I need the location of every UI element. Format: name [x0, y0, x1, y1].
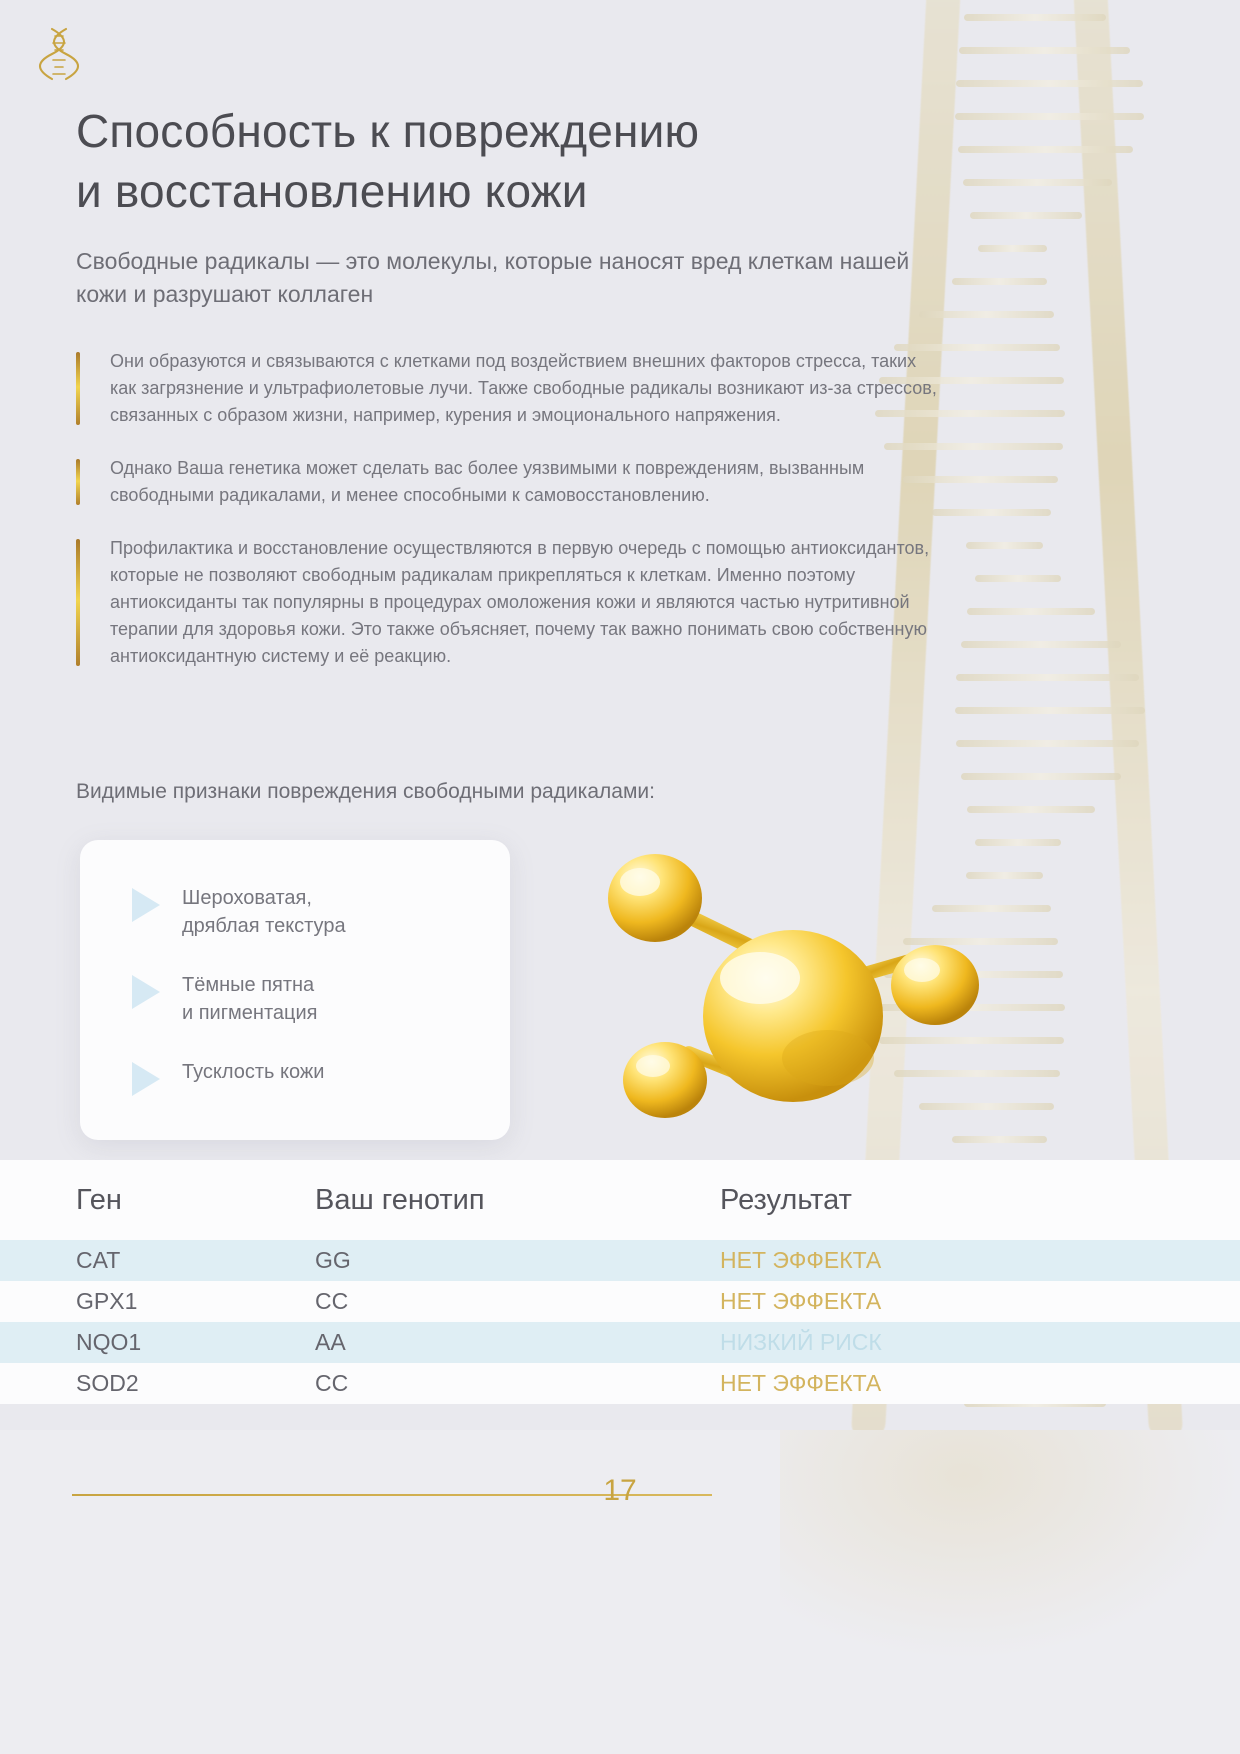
dna-rung — [959, 47, 1130, 54]
page-title-line-2: и восстановлению кожи — [76, 165, 588, 217]
dna-rung — [970, 212, 1082, 219]
dna-rung — [956, 674, 1138, 681]
cell-result: НЕТ ЭФФЕКТА — [720, 1288, 1240, 1315]
dna-rung — [961, 641, 1122, 648]
info-block: Профилактика и восстановление осуществля… — [76, 535, 946, 670]
page-title-line-1: Способность к повреждению — [76, 105, 699, 157]
cell-genotype: CC — [315, 1288, 720, 1315]
gold-accent-bar — [76, 352, 80, 425]
gold-accent-bar — [76, 539, 80, 666]
info-blocks: Они образуются и связываются с клетками … — [76, 348, 946, 696]
visible-signs-card: Шероховатая, дряблая текстура Тёмные пят… — [80, 840, 510, 1140]
table-row: NQO1 AA НИЗКИЙ РИСК — [0, 1322, 1240, 1363]
gold-accent-bar — [76, 459, 80, 505]
page-number: 17 — [0, 1474, 1240, 1508]
list-item-label: Шероховатая, дряблая текстура — [182, 884, 346, 941]
triangle-bullet-icon — [132, 1062, 160, 1096]
dna-rung — [952, 278, 1047, 285]
dna-rung — [956, 740, 1138, 747]
cell-genotype: GG — [315, 1247, 720, 1274]
list-item: Шероховатая, дряблая текстура — [110, 884, 480, 941]
dna-helix-logo-icon — [38, 26, 80, 82]
page-subtitle: Свободные радикалы — это молекулы, котор… — [76, 245, 956, 310]
table-row: CAT GG НЕТ ЭФФЕКТА — [0, 1240, 1240, 1281]
column-header-genotype: Ваш генотип — [315, 1184, 720, 1217]
gold-molecule-illustration — [580, 830, 1010, 1150]
list-item: Тусклость кожи — [110, 1058, 480, 1096]
triangle-bullet-icon — [132, 888, 160, 922]
list-item: Тёмные пятна и пигментация — [110, 971, 480, 1028]
info-block: Однако Ваша генетика может сделать вас б… — [76, 455, 946, 509]
info-block-text: Профилактика и восстановление осуществля… — [110, 535, 946, 670]
dna-rung — [919, 311, 1054, 318]
dna-rung — [955, 707, 1145, 714]
info-block-text: Они образуются и связываются с клетками … — [110, 348, 946, 429]
cell-result: НЕТ ЭФФЕКТА — [720, 1247, 1240, 1274]
dna-rung — [958, 146, 1133, 153]
dna-rung — [963, 179, 1112, 186]
column-header-gene: Ген — [0, 1184, 315, 1217]
cell-gene: CAT — [0, 1247, 315, 1274]
column-header-result: Результат — [720, 1184, 1240, 1217]
list-item-label: Тусклость кожи — [182, 1058, 324, 1086]
table-header-row: Ген Ваш генотип Результат — [0, 1160, 1240, 1240]
genotype-table: Ген Ваш генотип Результат CAT GG НЕТ ЭФФ… — [0, 1160, 1240, 1404]
cell-gene: GPX1 — [0, 1288, 315, 1315]
visible-signs-heading: Видимые признаки повреждения свободными … — [76, 780, 976, 804]
table-row: SOD2 CC НЕТ ЭФФЕКТА — [0, 1363, 1240, 1404]
dna-rung — [961, 773, 1122, 780]
list-item-label: Тёмные пятна и пигментация — [182, 971, 317, 1028]
cell-result: НИЗКИЙ РИСК — [720, 1329, 1240, 1356]
dna-rung — [964, 14, 1106, 21]
cell-genotype: AA — [315, 1329, 720, 1356]
dna-rung — [967, 608, 1095, 615]
cell-genotype: CC — [315, 1370, 720, 1397]
dna-rung — [975, 575, 1061, 582]
dna-rung — [978, 245, 1047, 252]
info-block: Они образуются и связываются с клетками … — [76, 348, 946, 429]
dna-rung — [966, 542, 1044, 549]
cell-gene: NQO1 — [0, 1329, 315, 1356]
dna-rung — [967, 806, 1095, 813]
dna-rung — [932, 509, 1052, 516]
page-title: Способность к повреждению и восстановлен… — [76, 102, 976, 222]
info-block-text: Однако Ваша генетика может сделать вас б… — [110, 455, 946, 509]
footer-decoration — [780, 1430, 1240, 1660]
dna-rung — [955, 113, 1144, 120]
report-page: Способность к повреждению и восстановлен… — [0, 0, 1240, 1754]
cell-result: НЕТ ЭФФЕКТА — [720, 1370, 1240, 1397]
dna-rung — [956, 80, 1143, 87]
triangle-bullet-icon — [132, 975, 160, 1009]
table-row: GPX1 CC НЕТ ЭФФЕКТА — [0, 1281, 1240, 1322]
cell-gene: SOD2 — [0, 1370, 315, 1397]
